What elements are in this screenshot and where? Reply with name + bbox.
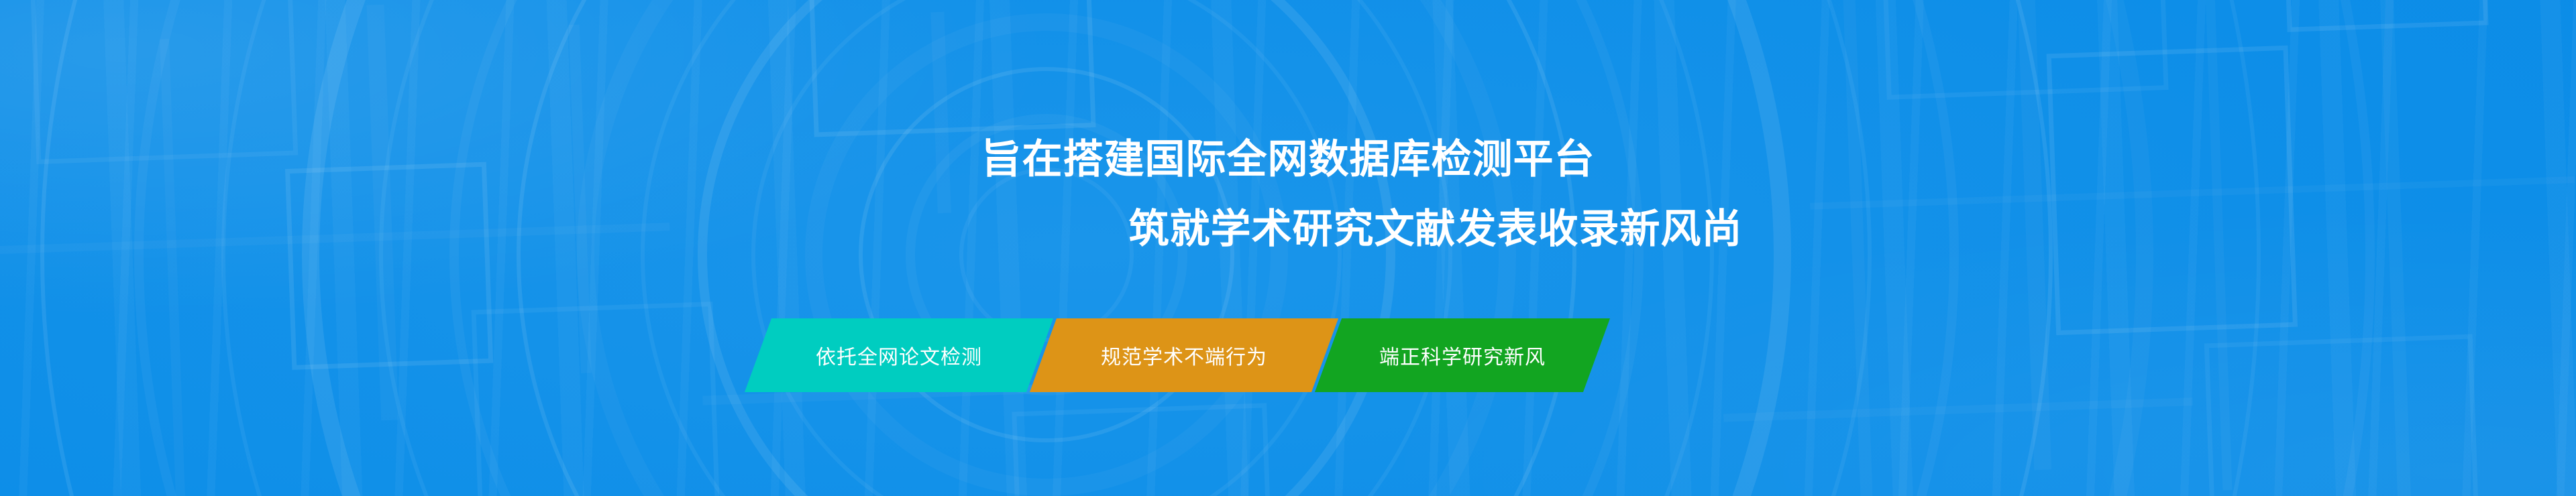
headline-line-2: 筑就学术研究文献发表收录新风尚 (0, 194, 2576, 264)
ribbon-academic-misconduct[interactable]: 规范学术不端行为 (1030, 318, 1338, 392)
circuit-block-3 (471, 302, 722, 496)
circuit-block-4 (806, 0, 1095, 137)
circuit-block-9 (2282, 0, 2489, 32)
ribbon-label-2: 规范学术不端行为 (1101, 340, 1267, 370)
circuit-line-12 (1723, 397, 2193, 422)
circuit-block-8 (2204, 334, 2480, 496)
headline-line-1: 旨在搭建国际全网数据库检测平台 (0, 125, 2576, 194)
promo-banner: 旨在搭建国际全网数据库检测平台 筑就学术研究文献发表收录新风尚 依托全网论文检测… (0, 0, 2576, 496)
ribbon-label-3: 端正科学研究新风 (1379, 340, 1546, 370)
circuit-block-6 (1880, 0, 2168, 100)
feature-ribbon-bar: 依托全网论文检测 规范学术不端行为 端正科学研究新风 (758, 318, 1597, 392)
banner-headline: 旨在搭建国际全网数据库检测平台 筑就学术研究文献发表收录新风尚 (0, 125, 2576, 264)
ribbon-label-1: 依托全网论文检测 (816, 340, 982, 370)
ribbon-research-ethos[interactable]: 端正科学研究新风 (1315, 318, 1610, 392)
ribbon-plagiarism-detection[interactable]: 依托全网论文检测 (745, 318, 1053, 392)
circuit-block-5 (1012, 403, 1273, 496)
circuit-line-1 (160, 39, 186, 496)
